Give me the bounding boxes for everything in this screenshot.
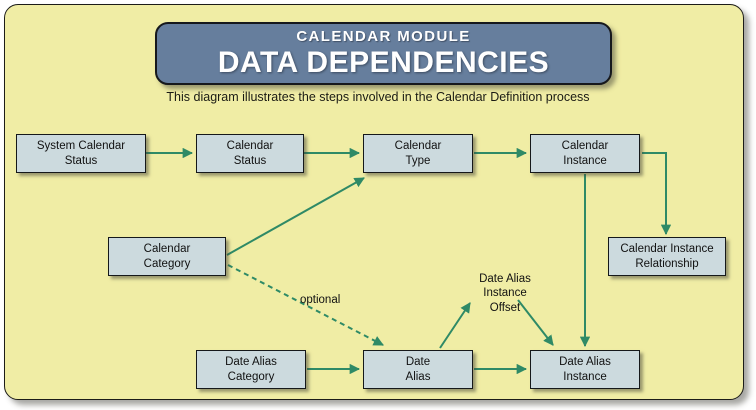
node-date-alias-category[interactable]: Date Alias Category bbox=[196, 350, 306, 389]
label-date-alias-instance-offset: Date Alias Instance Offset bbox=[462, 272, 548, 315]
node-calendar-type[interactable]: Calendar Type bbox=[363, 134, 473, 173]
node-date-alias[interactable]: Date Alias bbox=[363, 350, 473, 389]
node-calendar-category[interactable]: Calendar Category bbox=[108, 237, 226, 276]
node-calendar-instance[interactable]: Calendar Instance bbox=[530, 134, 640, 173]
node-calendar-instance-relationship[interactable]: Calendar Instance Relationship bbox=[608, 237, 726, 276]
label-optional: optional bbox=[300, 293, 370, 307]
diagram-screenshot: CALENDAR MODULE DATA DEPENDENCIES This d… bbox=[0, 0, 756, 410]
connector-layer bbox=[0, 0, 756, 410]
node-date-alias-instance[interactable]: Date Alias Instance bbox=[530, 350, 640, 389]
link-calinstance-to-calinstancerel bbox=[642, 153, 666, 234]
node-system-calendar-status[interactable]: System Calendar Status bbox=[16, 134, 146, 173]
link-calcategory-to-caltype bbox=[227, 178, 364, 255]
node-calendar-status[interactable]: Calendar Status bbox=[196, 134, 304, 173]
